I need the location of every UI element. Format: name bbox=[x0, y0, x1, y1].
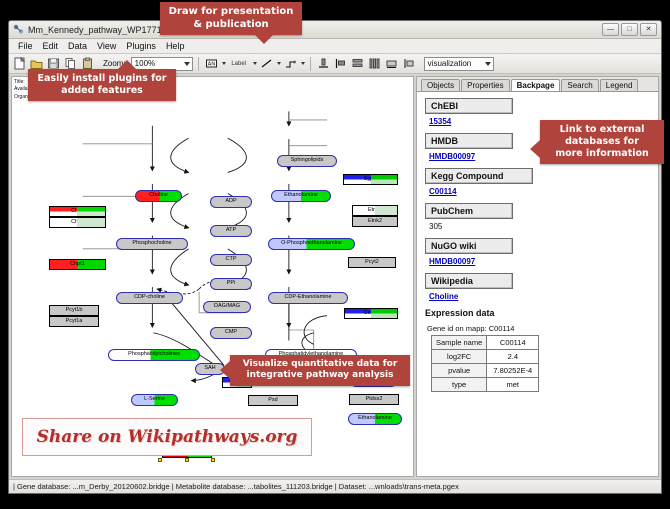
distribute-icon[interactable] bbox=[367, 56, 382, 71]
tab-objects[interactable]: Objects bbox=[421, 79, 460, 91]
node-psd[interactable]: Psd bbox=[248, 395, 298, 406]
cell-key: pvalue bbox=[432, 364, 487, 378]
node-etnk1-expr-half bbox=[375, 205, 398, 216]
node-label: Ethanolamine bbox=[358, 416, 392, 422]
align-left-icon[interactable] bbox=[333, 56, 348, 71]
stack-icon[interactable] bbox=[350, 56, 365, 71]
status-bar: | Gene database: ...m_Derby_20120602.bri… bbox=[9, 479, 661, 493]
node-label: Ethanolamine bbox=[284, 193, 318, 199]
node-cmp[interactable]: CMP bbox=[210, 327, 252, 339]
node-ptdss2[interactable]: Ptdss2 bbox=[349, 394, 399, 405]
group-icon[interactable] bbox=[384, 56, 399, 71]
node-label: Pcyt1b bbox=[66, 308, 83, 314]
node-cdp-ethanolamine[interactable]: CDP-Ethanolamine bbox=[268, 292, 348, 304]
section-heading-pubchem: PubChem bbox=[425, 203, 513, 219]
callout-line-1: Visualize quantitative data for bbox=[243, 359, 398, 369]
line-icon[interactable] bbox=[259, 56, 274, 71]
align-bottom-icon[interactable] bbox=[316, 56, 331, 71]
cell-value: C00114 bbox=[487, 336, 539, 350]
callout-line-1: Link to external bbox=[560, 124, 645, 135]
node-cdp-choline[interactable]: CDP-choline bbox=[116, 292, 183, 304]
svg-text:AN: AN bbox=[207, 62, 215, 68]
toolbar-separator bbox=[310, 57, 311, 71]
node-label: CDP-Ethanolamine bbox=[284, 295, 331, 301]
link-wikipedia[interactable]: Choline bbox=[429, 292, 650, 301]
table-row: pvalue 7.80252E-4 bbox=[432, 364, 539, 378]
node-label: Sphingolipids bbox=[291, 158, 324, 164]
node-label: Ptdss2 bbox=[366, 397, 383, 403]
callout-pointer-down bbox=[255, 35, 273, 44]
minimize-button[interactable]: — bbox=[602, 23, 619, 36]
menu-view[interactable]: View bbox=[92, 41, 121, 51]
callout-pointer-left bbox=[220, 361, 230, 379]
title-bar: Mm_Kennedy_pathway_WP1771_45176.gpml — □… bbox=[9, 21, 661, 39]
table-row: Sample name C00114 bbox=[432, 336, 539, 350]
tab-search[interactable]: Search bbox=[561, 79, 598, 91]
table-row: type met bbox=[432, 378, 539, 392]
node-etnk2[interactable]: Etnk2 bbox=[352, 216, 398, 227]
callout-draw-for-publication: Draw for presentation & publication bbox=[160, 2, 302, 35]
chevron-down-icon bbox=[184, 62, 190, 66]
node-label: CDP-choline bbox=[134, 295, 165, 301]
tab-backpage[interactable]: Backpage bbox=[511, 79, 561, 91]
cell-value: 2.4 bbox=[487, 350, 539, 364]
menu-data[interactable]: Data bbox=[63, 41, 92, 51]
chevron-down-icon[interactable] bbox=[277, 62, 281, 65]
callout-line-2: integrative pathway analysis bbox=[247, 370, 394, 380]
node-pcyt1a[interactable]: Pcyt1a bbox=[49, 316, 99, 327]
link-kegg[interactable]: C00114 bbox=[429, 187, 650, 196]
node-adp[interactable]: ADP bbox=[210, 196, 252, 208]
menu-help[interactable]: Help bbox=[161, 41, 190, 51]
side-panel-tabs: Objects Properties Backpage Search Legen… bbox=[417, 77, 658, 91]
node-l-serine-left[interactable]: L-Serine bbox=[131, 394, 178, 406]
callout-share-wikipathways: Share on Wikipathways.org bbox=[22, 418, 312, 456]
callout-line-3: more information bbox=[555, 148, 649, 159]
callout-line-2: databases for bbox=[565, 136, 639, 147]
callout-pointer-left bbox=[530, 140, 540, 158]
cell-key: log2FC bbox=[432, 350, 487, 364]
tab-properties[interactable]: Properties bbox=[461, 79, 509, 91]
node-label: Psd bbox=[268, 398, 277, 404]
node-ppi[interactable]: PPi bbox=[210, 278, 252, 290]
datanode-icon[interactable]: AN bbox=[204, 56, 219, 71]
menu-file[interactable]: File bbox=[13, 41, 38, 51]
node-label: DAG/MAG bbox=[214, 304, 240, 310]
expression-data-title: Expression data bbox=[425, 308, 650, 318]
expression-table: Sample name C00114 log2FC 2.4 pvalue 7.8… bbox=[431, 335, 539, 392]
node-chkb-expr-half bbox=[77, 206, 106, 217]
node-label: Etnk2 bbox=[368, 219, 382, 225]
section-heading-kegg: Kegg Compound bbox=[425, 168, 533, 184]
cell-value: 7.80252E-4 bbox=[487, 364, 539, 378]
callout-line-1: Draw for presentation bbox=[169, 6, 294, 17]
chevron-down-icon[interactable] bbox=[222, 62, 226, 65]
callout-visualize-data: Visualize quantitative data for integrat… bbox=[230, 355, 410, 386]
maximize-button[interactable]: □ bbox=[621, 23, 638, 36]
chevron-down-icon[interactable] bbox=[253, 62, 257, 65]
node-label: CTP bbox=[226, 257, 237, 263]
node-label: Choline bbox=[149, 193, 168, 199]
callout-line-2: added features bbox=[61, 85, 143, 96]
section-heading-chebi: ChEBI bbox=[425, 98, 513, 114]
node-chpt1[interactable]: Chpt1 bbox=[49, 259, 106, 270]
node-label: CMP bbox=[225, 330, 237, 336]
callout-line-2: & publication bbox=[193, 19, 268, 30]
node-label: Phosphatidylcholines bbox=[128, 352, 180, 358]
chevron-down-icon[interactable] bbox=[301, 62, 305, 65]
zoom-value: 100% bbox=[135, 59, 155, 68]
node-o-phosphoethanolamine[interactable]: O-Phosphoethanolamine bbox=[268, 238, 355, 250]
node-label: Pcyt1a bbox=[66, 319, 83, 325]
menu-bar: File Edit Data View Plugins Help bbox=[9, 39, 661, 54]
tab-legend[interactable]: Legend bbox=[600, 79, 639, 91]
node-phosphocholine[interactable]: Phosphocholine bbox=[116, 238, 188, 250]
resize-handle-sw[interactable] bbox=[158, 458, 162, 462]
chevron-down-icon bbox=[485, 62, 491, 66]
label-tool[interactable]: Label bbox=[228, 56, 250, 71]
visualization-value: visualization bbox=[428, 59, 472, 68]
node-sgpl1-expr-half bbox=[371, 174, 398, 185]
node-label: ATP bbox=[226, 228, 236, 234]
node-label: Phosphocholine bbox=[132, 241, 171, 247]
node-label: Pcyt2 bbox=[365, 260, 379, 266]
menu-edit[interactable]: Edit bbox=[38, 41, 64, 51]
node-label: Chpt1 bbox=[70, 262, 85, 268]
node-label: L-Serine bbox=[144, 397, 165, 403]
pathway-canvas[interactable]: Title: Availa Organi bbox=[11, 76, 414, 477]
node-ctp[interactable]: CTP bbox=[210, 254, 252, 266]
toolbar-separator bbox=[198, 57, 199, 71]
resize-handle-s[interactable] bbox=[185, 458, 189, 462]
close-button[interactable]: ✕ bbox=[640, 23, 657, 36]
node-label: PPi bbox=[227, 281, 236, 287]
pathway-edges bbox=[12, 77, 413, 468]
node-chka-expr-half bbox=[77, 217, 106, 228]
callout-line-1: Easily install plugins for bbox=[38, 73, 167, 84]
callout-external-links: Link to external databases for more info… bbox=[540, 120, 664, 164]
cell-key: type bbox=[432, 378, 487, 392]
section-heading-hmdb: HMDB bbox=[425, 133, 513, 149]
share-text: Share on Wikipathways.org bbox=[37, 427, 298, 447]
table-row: log2FC 2.4 bbox=[432, 350, 539, 364]
node-phosphatidylcholines[interactable]: Phosphatidylcholines bbox=[108, 349, 200, 361]
node-pcyt1b[interactable]: Pcyt1b bbox=[49, 305, 99, 316]
gene-id-line: Gene id on mapp: C00114 bbox=[427, 324, 650, 333]
node-ethanolamine-bottom[interactable]: Ethanolamine bbox=[348, 413, 402, 425]
node-choline-top[interactable]: Choline bbox=[135, 190, 182, 202]
node-label: O-Phosphoethanolamine bbox=[281, 241, 342, 247]
visualization-combobox[interactable]: visualization bbox=[424, 57, 494, 71]
ungroup-icon[interactable] bbox=[401, 56, 416, 71]
resize-handle-se[interactable] bbox=[211, 458, 215, 462]
connector-icon[interactable] bbox=[283, 56, 298, 71]
node-label: ADP bbox=[225, 199, 236, 205]
node-atp[interactable]: ATP bbox=[210, 225, 252, 237]
section-heading-wikipedia: Wikipedia bbox=[425, 273, 513, 289]
section-heading-nugo: NuGO wiki bbox=[425, 238, 513, 254]
window-controls: — □ ✕ bbox=[602, 23, 657, 36]
node-ethanolamine-top[interactable]: Ethanolamine bbox=[271, 190, 331, 202]
link-nugo[interactable]: HMDB00097 bbox=[429, 257, 650, 266]
callout-pointer-up bbox=[118, 60, 136, 69]
node-cept1-expr-half bbox=[371, 308, 398, 319]
cell-key: Sample name bbox=[432, 336, 487, 350]
callout-install-plugins: Easily install plugins for added feature… bbox=[28, 69, 176, 101]
app-icon bbox=[13, 24, 24, 35]
value-pubchem: 305 bbox=[429, 222, 650, 231]
node-pcyt2[interactable]: Pcyt2 bbox=[348, 257, 396, 268]
new-file-icon[interactable] bbox=[12, 56, 27, 71]
node-sphingolipids[interactable]: Sphingolipids bbox=[277, 155, 337, 167]
node-label: SAH bbox=[204, 366, 215, 372]
status-text: | Gene database: ...m_Derby_20120602.bri… bbox=[13, 482, 459, 491]
cell-value: met bbox=[487, 378, 539, 392]
menu-plugins[interactable]: Plugins bbox=[121, 41, 161, 51]
node-dag-mag[interactable]: DAG/MAG bbox=[203, 301, 251, 313]
